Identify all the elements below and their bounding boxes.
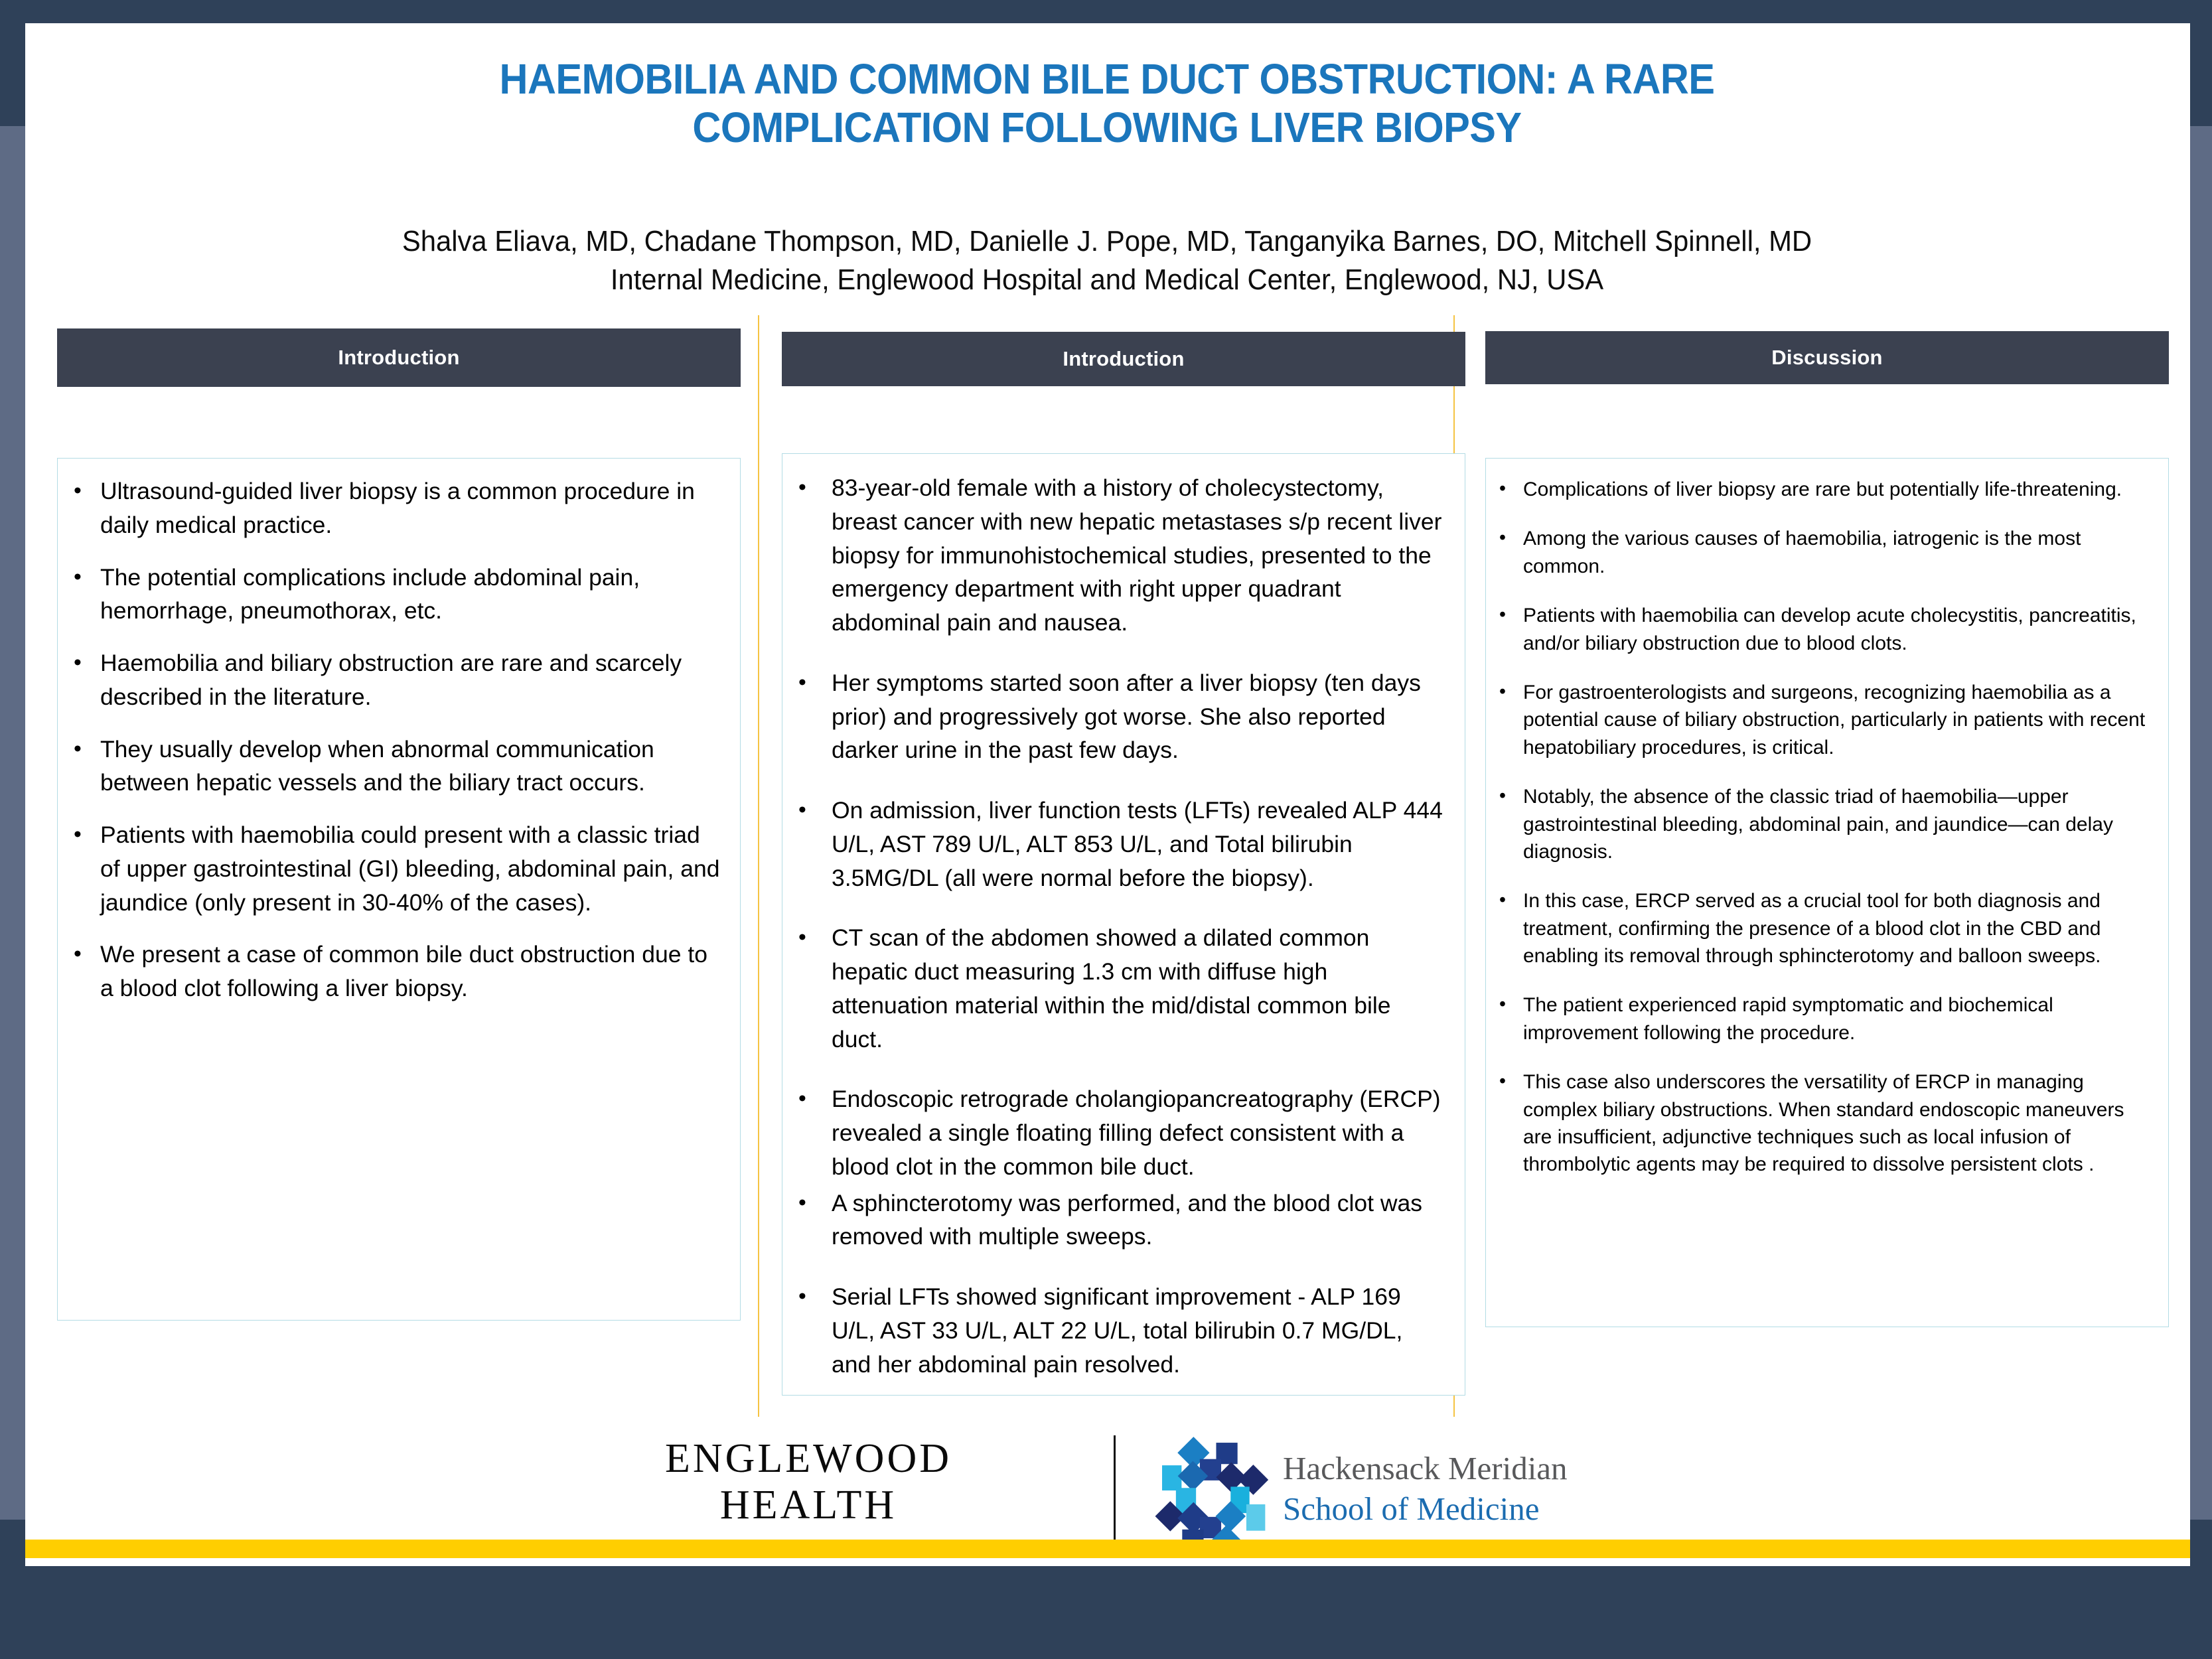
- column-divider-1: [758, 315, 759, 1417]
- logo-separator-rule: [1114, 1435, 1116, 1542]
- section-header-label: Introduction: [1063, 347, 1184, 371]
- list-item: The potential complications include abdo…: [70, 561, 725, 628]
- list-item: Patients with haemobilia could present w…: [70, 818, 725, 919]
- section-body-discussion: Complications of liver biopsy are rare b…: [1485, 458, 2169, 1327]
- list-item: A sphincterotomy was performed, and the …: [794, 1187, 1447, 1254]
- list-item: We present a case of common bile duct ob…: [70, 938, 725, 1005]
- section-header-discussion: Discussion: [1485, 331, 2169, 384]
- list-item: Serial LFTs showed significant improveme…: [794, 1280, 1447, 1381]
- list-item: In this case, ERCP served as a crucial t…: [1495, 887, 2154, 970]
- englewood-logo-line-1: ENGLEWOOD: [576, 1435, 1041, 1482]
- list-item: This case also underscores the versatili…: [1495, 1068, 2154, 1179]
- list-item: The patient experienced rapid symptomati…: [1495, 991, 2154, 1046]
- page-title: HAEMOBILIA AND COMMON BILE DUCT OBSTRUCT…: [175, 55, 2039, 152]
- englewood-health-logo: ENGLEWOOD HEALTH: [576, 1435, 1041, 1528]
- section-body-introduction-1: Ultrasound-guided liver biopsy is a comm…: [57, 458, 741, 1321]
- title-line-1: HAEMOBILIA AND COMMON BILE DUCT OBSTRUCT…: [175, 55, 2039, 104]
- list-item: On admission, liver function tests (LFTs…: [794, 794, 1447, 895]
- hmsom-line-1: Hackensack Meridian: [1283, 1449, 1721, 1489]
- bullet-list: Ultrasound-guided liver biopsy is a comm…: [70, 474, 725, 1005]
- title-line-2: COMPLICATION FOLLOWING LIVER BIOPSY: [175, 104, 2039, 152]
- list-item: Notably, the absence of the classic tria…: [1495, 783, 2154, 865]
- englewood-logo-line-2: HEALTH: [576, 1482, 1041, 1528]
- section-header-introduction-1: Introduction: [57, 328, 741, 387]
- section-header-label: Introduction: [338, 346, 459, 370]
- hackensack-meridian-wordmark: Hackensack Meridian School of Medicine: [1283, 1449, 1721, 1530]
- list-item: Ultrasound-guided liver biopsy is a comm…: [70, 474, 725, 542]
- authors-line: Shalva Eliava, MD, Chadane Thompson, MD,…: [155, 222, 2059, 261]
- list-item: Endoscopic retrograde cholangiopancreato…: [794, 1082, 1447, 1183]
- list-item: They usually develop when abnormal commu…: [70, 733, 725, 800]
- section-header-introduction-2: Introduction: [782, 332, 1465, 386]
- hackensack-meridian-logo: Hackensack Meridian School of Medicine: [1147, 1431, 1724, 1551]
- poster-sheet: HAEMOBILIA AND COMMON BILE DUCT OBSTRUCT…: [25, 23, 2190, 1566]
- footer-accent-bar: [25, 1540, 2190, 1558]
- list-item: Patients with haemobilia can develop acu…: [1495, 602, 2154, 657]
- list-item: 83-year-old female with a history of cho…: [794, 471, 1447, 640]
- section-header-label: Discussion: [1771, 346, 1882, 370]
- diamond-mosaic-icon: [1147, 1431, 1273, 1551]
- section-body-introduction-2: 83-year-old female with a history of cho…: [782, 453, 1465, 1396]
- affiliation-line: Internal Medicine, Englewood Hospital an…: [155, 261, 2059, 299]
- list-item: Haemobilia and biliary obstruction are r…: [70, 646, 725, 714]
- list-item: For gastroenterologists and surgeons, re…: [1495, 679, 2154, 761]
- bullet-list: Complications of liver biopsy are rare b…: [1495, 476, 2154, 1179]
- bullet-list: 83-year-old female with a history of cho…: [794, 471, 1447, 1381]
- hmsom-line-2: School of Medicine: [1283, 1489, 1721, 1530]
- list-item: Among the various causes of haemobilia, …: [1495, 525, 2154, 580]
- author-block: Shalva Eliava, MD, Chadane Thompson, MD,…: [155, 222, 2059, 299]
- list-item: CT scan of the abdomen showed a dilated …: [794, 921, 1447, 1056]
- list-item: Her symptoms started soon after a liver …: [794, 666, 1447, 767]
- list-item: Complications of liver biopsy are rare b…: [1495, 476, 2154, 503]
